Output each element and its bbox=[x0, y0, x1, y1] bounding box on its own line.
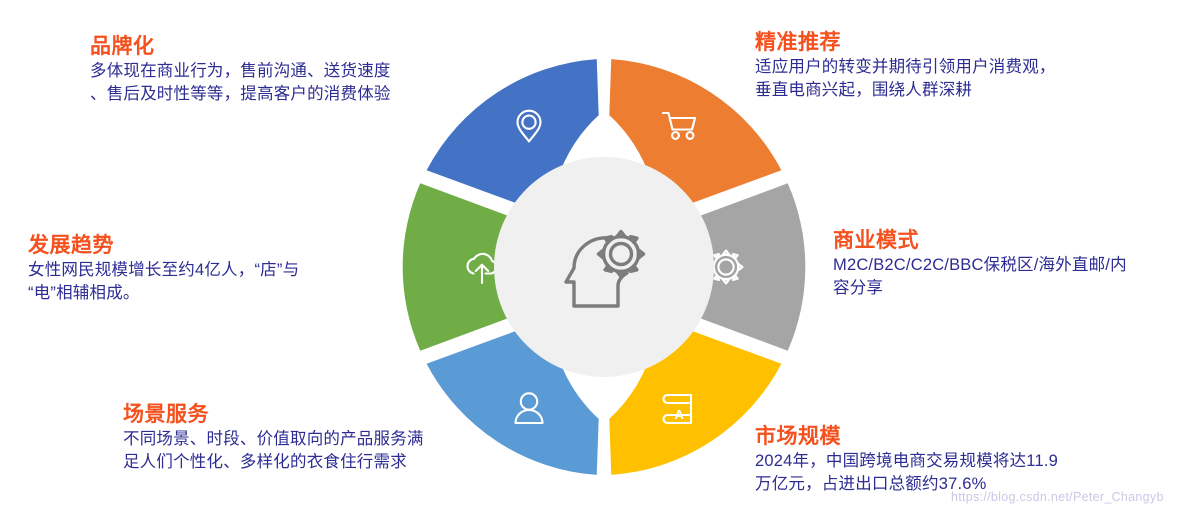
callout-trend-body-line-1: 女性网民规模增长至约4亿人，“店”与 bbox=[28, 259, 299, 282]
callout-scenario-body: 不同场景、时段、价值取向的产品服务满 足人们个性化、多样化的衣食住行需求 bbox=[123, 428, 424, 474]
callout-business-title: 商业模式 bbox=[833, 228, 1127, 254]
callout-trend: 发展趋势 女性网民规模增长至约4亿人，“店”与 “电”相辅相成。 bbox=[28, 233, 299, 305]
infographic-canvas: 品牌化 多体现在商业行为，售前沟通、送货速度 、售后及时性等等，提高客户的消费体… bbox=[0, 0, 1184, 511]
callout-brand-title: 品牌化 bbox=[90, 34, 391, 60]
svg-text:A: A bbox=[674, 407, 684, 422]
callout-brand-body-line-1: 多体现在商业行为，售前沟通、送货速度 bbox=[90, 60, 391, 83]
callout-scenario-body-line-1: 不同场景、时段、价值取向的产品服务满 bbox=[123, 428, 424, 451]
callout-scenario-title: 场景服务 bbox=[123, 402, 424, 428]
center-disc bbox=[494, 157, 714, 377]
callout-trend-body: 女性网民规模增长至约4亿人，“店”与 “电”相辅相成。 bbox=[28, 259, 299, 305]
callout-business-body-line-1: M2C/B2C/C2C/BBC保税区/海外直邮/内 bbox=[833, 254, 1127, 277]
callout-business-body: M2C/B2C/C2C/BBC保税区/海外直邮/内 容分享 bbox=[833, 254, 1127, 300]
callout-business-body-line-2: 容分享 bbox=[833, 277, 1127, 300]
callout-trend-body-line-2: “电”相辅相成。 bbox=[28, 282, 299, 305]
callout-business: 商业模式 M2C/B2C/C2C/BBC保税区/海外直邮/内 容分享 bbox=[833, 228, 1127, 300]
callout-brand: 品牌化 多体现在商业行为，售前沟通、送货速度 、售后及时性等等，提高客户的消费体… bbox=[90, 34, 391, 106]
donut-diagram: A bbox=[389, 52, 819, 482]
callout-scenario: 场景服务 不同场景、时段、价值取向的产品服务满 足人们个性化、多样化的衣食住行需… bbox=[123, 402, 424, 474]
source-watermark: https://blog.csdn.net/Peter_Changyb bbox=[951, 490, 1164, 504]
callout-brand-body-line-2: 、售后及时性等等，提高客户的消费体验 bbox=[90, 83, 391, 106]
callout-brand-body: 多体现在商业行为，售前沟通、送货速度 、售后及时性等等，提高客户的消费体验 bbox=[90, 60, 391, 106]
callout-scenario-body-line-2: 足人们个性化、多样化的衣食住行需求 bbox=[123, 451, 424, 474]
callout-trend-title: 发展趋势 bbox=[28, 233, 299, 259]
